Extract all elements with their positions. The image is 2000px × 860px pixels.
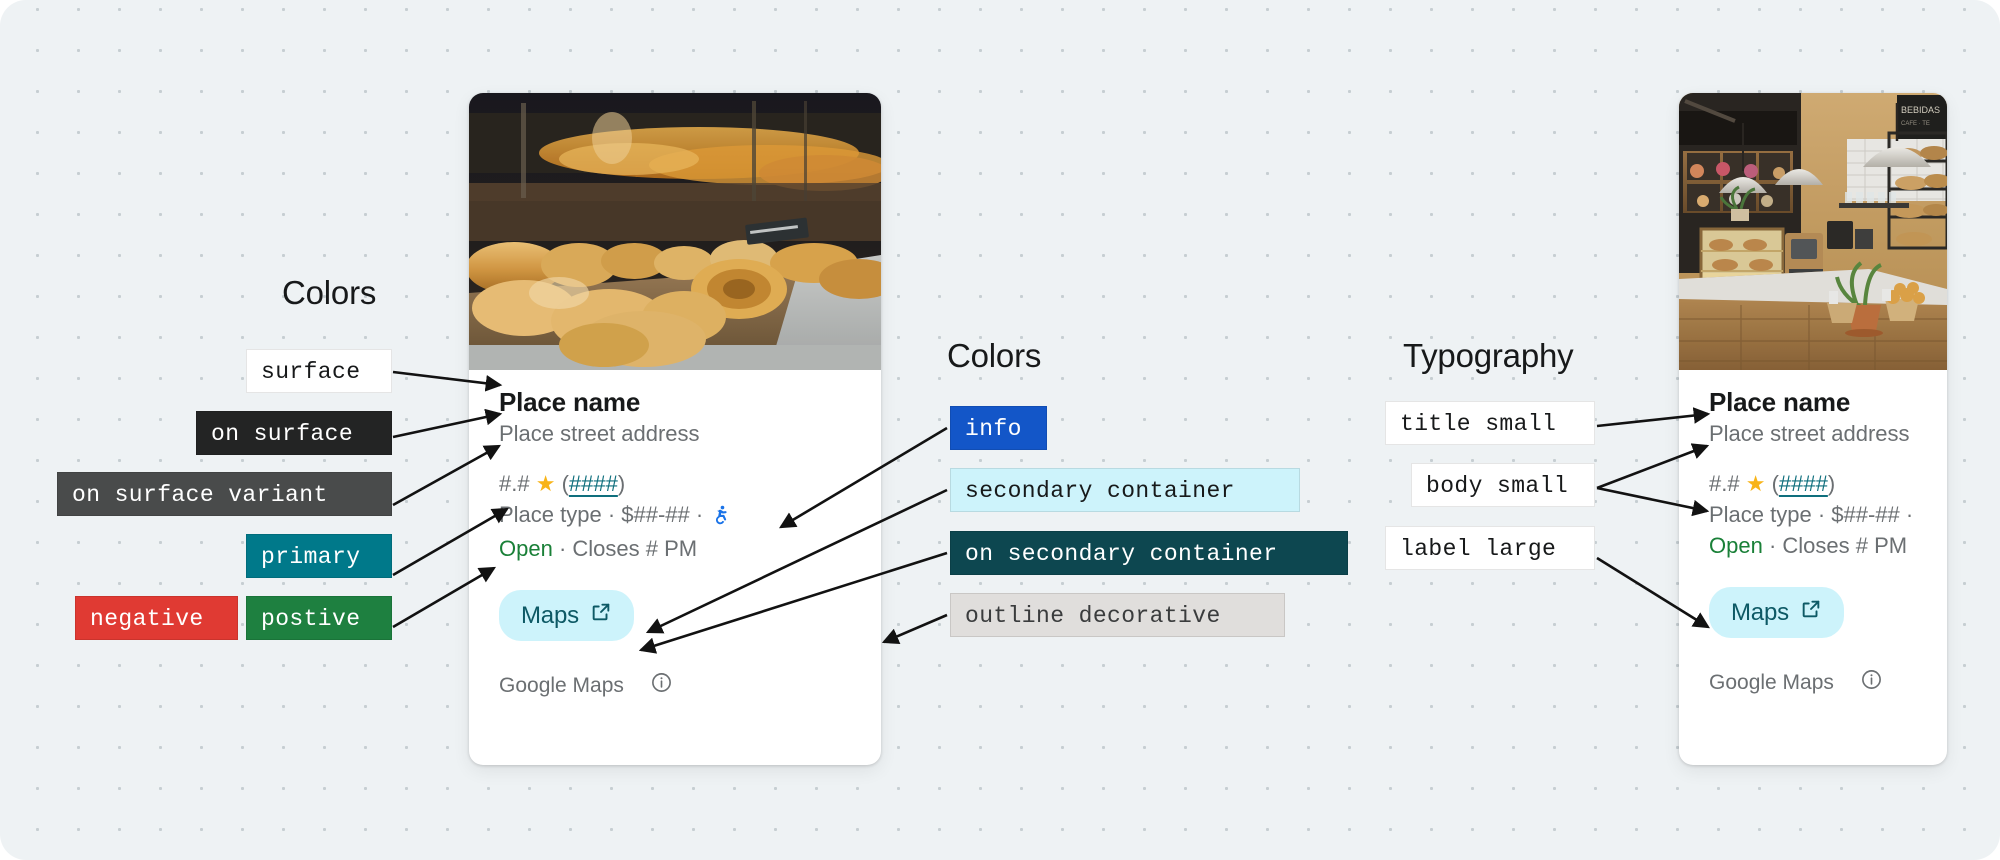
card-footer-right: Google Maps [1679, 638, 1947, 719]
swatch-label: on surface variant [72, 482, 328, 508]
hours-row: Open · Closes # PM [1709, 530, 1917, 561]
card-body-right: Place name Place street address #.# ★ (#… [1679, 370, 1947, 638]
arrow-outline-decorative-to-card-outline [884, 615, 947, 642]
design-annotation-canvas: Place name Place street address #.# ★ (#… [0, 0, 2000, 860]
open-status: Open [499, 536, 553, 561]
type-chip-label: title small [1400, 411, 1556, 437]
google-maps-attribution: Google Maps [499, 674, 624, 698]
swatch-on-surface-variant[interactable]: on surface variant [57, 472, 392, 516]
closing-hours: · Closes # PM [1769, 533, 1907, 558]
type-chip-label-large[interactable]: label large [1385, 526, 1595, 570]
swatch-label: info [965, 416, 1022, 442]
place-address: Place street address [1709, 420, 1917, 449]
maps-button-label: Maps [521, 602, 579, 630]
swatch-label: surface [261, 359, 360, 385]
closing-hours: · Closes # PM [559, 536, 697, 561]
type-price-row: Place type · $##-## · [499, 499, 851, 533]
swatch-label: on secondary container [965, 541, 1277, 567]
swatch-label: negative [90, 606, 204, 632]
open-status: Open [1709, 533, 1763, 558]
swatch-on-secondary-container[interactable]: on secondary container [950, 531, 1348, 575]
swatch-on-surface[interactable]: on surface [196, 411, 392, 455]
card-photo-right: BEBIDAS CAFE · TE [1679, 93, 1947, 370]
maps-button[interactable]: Maps [1709, 587, 1844, 638]
open-in-new-icon [590, 601, 612, 630]
review-parens-close: ) [618, 471, 625, 496]
cafe-interior-counter-photo: BEBIDAS CAFE · TE [1679, 93, 1947, 370]
place-meta-block: #.# ★ (####) Place type · $##-## · Open … [1709, 468, 1917, 562]
swatch-outline-decorative[interactable]: outline decorative [950, 593, 1285, 637]
rating-value: #.# [499, 471, 530, 496]
type-price-text: Place type · $##-## · [1709, 502, 1913, 527]
hours-row: Open · Closes # PM [499, 533, 851, 564]
swatch-surface[interactable]: surface [246, 349, 392, 393]
rating-value: #.# [1709, 471, 1740, 496]
swatch-negative[interactable]: negative [75, 596, 238, 640]
swatch-label: postive [261, 606, 360, 632]
type-price-text: Place type · $##-## · [499, 502, 703, 527]
wheelchair-accessible-icon [711, 502, 730, 533]
swatch-label: secondary container [965, 478, 1235, 504]
maps-button[interactable]: Maps [499, 590, 634, 641]
card-body-left: Place name Place street address #.# ★ (#… [469, 370, 881, 641]
place-address: Place street address [499, 420, 851, 449]
card-footer-left: Google Maps [469, 641, 881, 722]
google-maps-attribution: Google Maps [1709, 671, 1834, 695]
rating-row: #.# ★ (####) [1709, 468, 1917, 499]
swatch-label: outline decorative [965, 603, 1221, 629]
review-parens-close: ) [1828, 471, 1835, 496]
type-chip-label: body small [1426, 473, 1568, 499]
place-name: Place name [499, 388, 851, 417]
type-price-row: Place type · $##-## · [1709, 499, 1917, 530]
swatch-secondary-container[interactable]: secondary container [950, 468, 1300, 512]
swatch-label: on surface [211, 421, 353, 447]
swatch-label: primary [261, 544, 360, 570]
swatch-primary[interactable]: primary [246, 534, 392, 578]
place-card-right[interactable]: BEBIDAS CAFE · TE [1679, 93, 1947, 765]
review-count-link[interactable]: #### [1779, 471, 1828, 496]
review-parens-open: ( [1772, 471, 1779, 496]
star-icon: ★ [1746, 471, 1766, 496]
section-title-typography: Typography [1403, 337, 1573, 375]
type-chip-title-small[interactable]: title small [1385, 401, 1595, 445]
bakery-pastry-display-photo [469, 93, 881, 370]
section-title-colors-left: Colors [282, 274, 376, 312]
info-circle-icon[interactable] [650, 671, 673, 700]
swatch-postive[interactable]: postive [246, 596, 392, 640]
place-meta-block: #.# ★ (####) Place type · $##-## · [499, 468, 851, 565]
place-card-left[interactable]: Place name Place street address #.# ★ (#… [469, 93, 881, 765]
info-circle-icon[interactable] [1860, 668, 1883, 697]
type-chip-label: label large [1400, 536, 1556, 562]
review-parens-open: ( [562, 471, 569, 496]
rating-row: #.# ★ (####) [499, 468, 851, 499]
open-in-new-icon [1800, 598, 1822, 627]
star-icon: ★ [536, 471, 556, 496]
section-title-colors-middle: Colors [947, 337, 1041, 375]
type-chip-body-small[interactable]: body small [1411, 463, 1595, 507]
card-photo-left [469, 93, 881, 370]
place-name: Place name [1709, 388, 1917, 417]
review-count-link[interactable]: #### [569, 471, 618, 496]
maps-button-label: Maps [1731, 599, 1789, 627]
swatch-info[interactable]: info [950, 406, 1047, 450]
